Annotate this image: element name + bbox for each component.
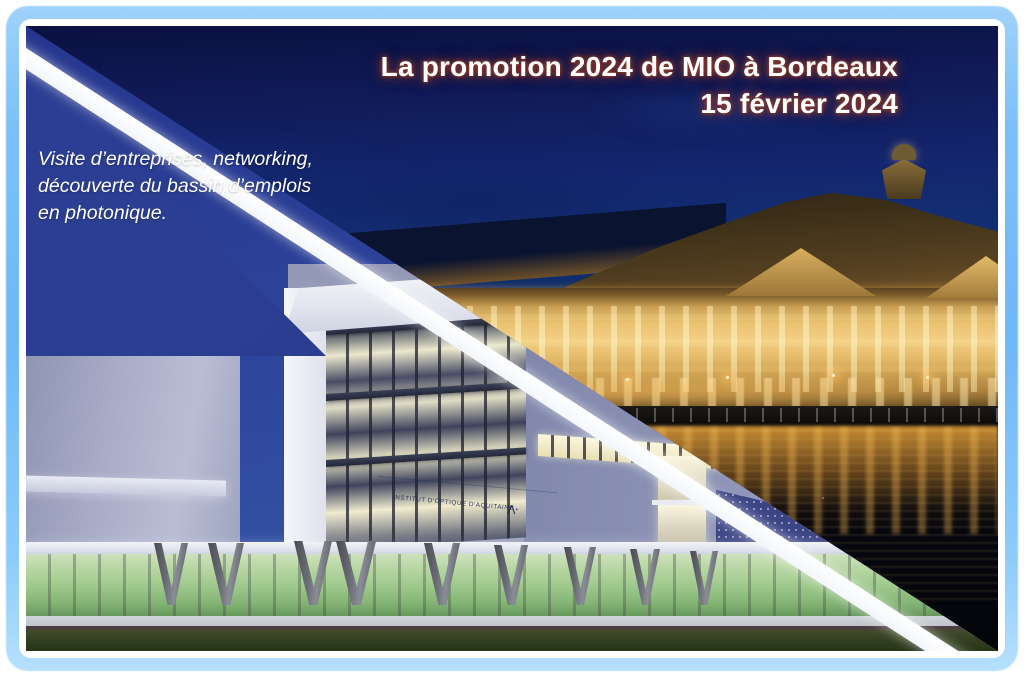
street-lamp-icon [726, 376, 729, 379]
poster-image-canvas: INSTITUT D'OPTIQUE D'AQUITAINE ⋀⋅ Visite… [26, 26, 998, 651]
body-text: Visite d’entreprises, networking, découv… [38, 146, 323, 227]
title-line-1: La promotion 2024 de MIO à Bordeaux [258, 48, 898, 85]
street-lamp-icon [626, 378, 629, 381]
institute-logo-icon: ⋀⋅ [508, 504, 519, 516]
street-lamp-icon [832, 374, 835, 377]
palace-cupola [878, 144, 930, 206]
title-block: La promotion 2024 de MIO à Bordeaux 15 f… [258, 48, 898, 122]
street-lamp-icon [926, 376, 929, 379]
title-line-2: 15 février 2024 [258, 85, 898, 122]
foreground-lawn [26, 626, 998, 651]
annex-building [26, 322, 240, 558]
